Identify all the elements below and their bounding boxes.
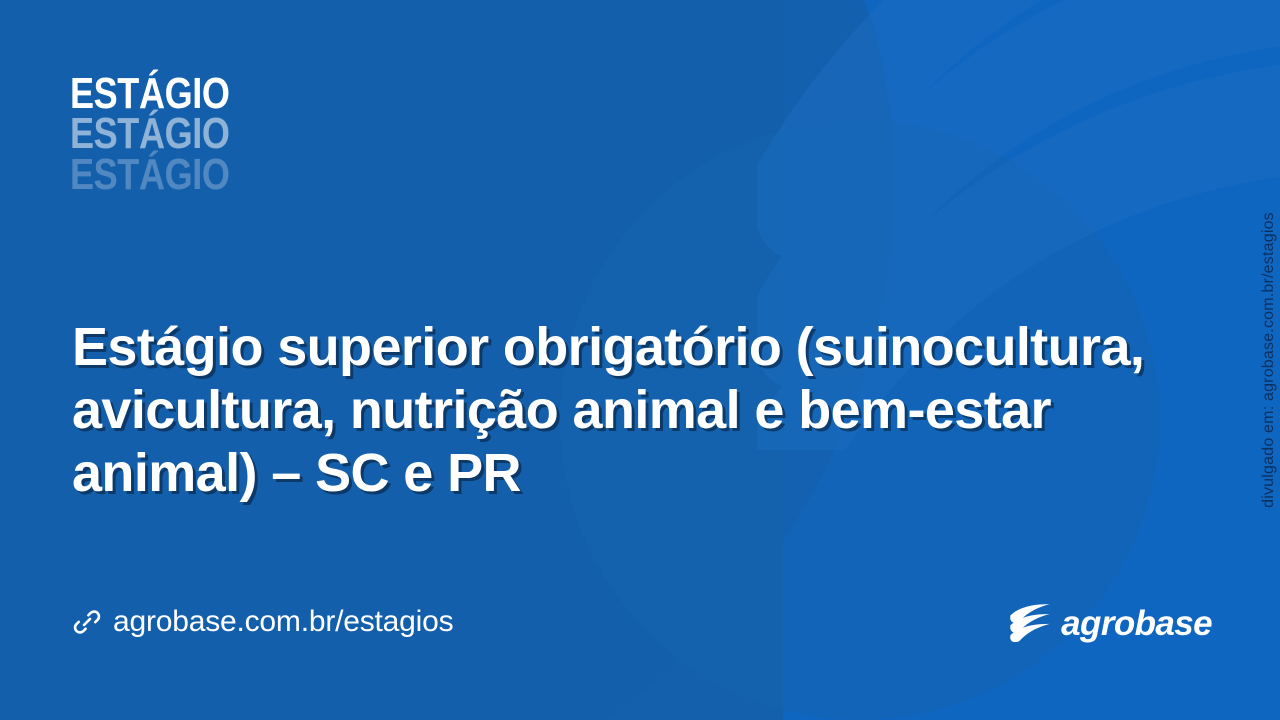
agrobase-leaves-icon (1007, 604, 1053, 642)
source-link[interactable]: agrobase.com.br/estagios (72, 605, 453, 639)
credit-text: divulgado em: agrobase.com.br/estagios (1260, 212, 1278, 508)
estagio-wordmark-line-1: ESTÁGIO (70, 74, 230, 114)
source-link-text: agrobase.com.br/estagios (113, 605, 453, 639)
agrobase-logo[interactable]: agrobase (1007, 604, 1212, 642)
estagio-wordmark-stack: ESTÁGIO ESTÁGIO ESTÁGIO (70, 74, 265, 195)
estagio-wordmark-line-2: ESTÁGIO (70, 114, 230, 154)
agrobase-wordmark: agrobase (1061, 606, 1212, 641)
estagio-wordmark-line-3: ESTÁGIO (70, 155, 230, 195)
link-icon (72, 607, 102, 637)
promo-banner: ESTÁGIO ESTÁGIO ESTÁGIO Estágio superior… (0, 0, 1280, 720)
page-title: Estágio superior obrigatório (suinocultu… (72, 316, 1212, 506)
